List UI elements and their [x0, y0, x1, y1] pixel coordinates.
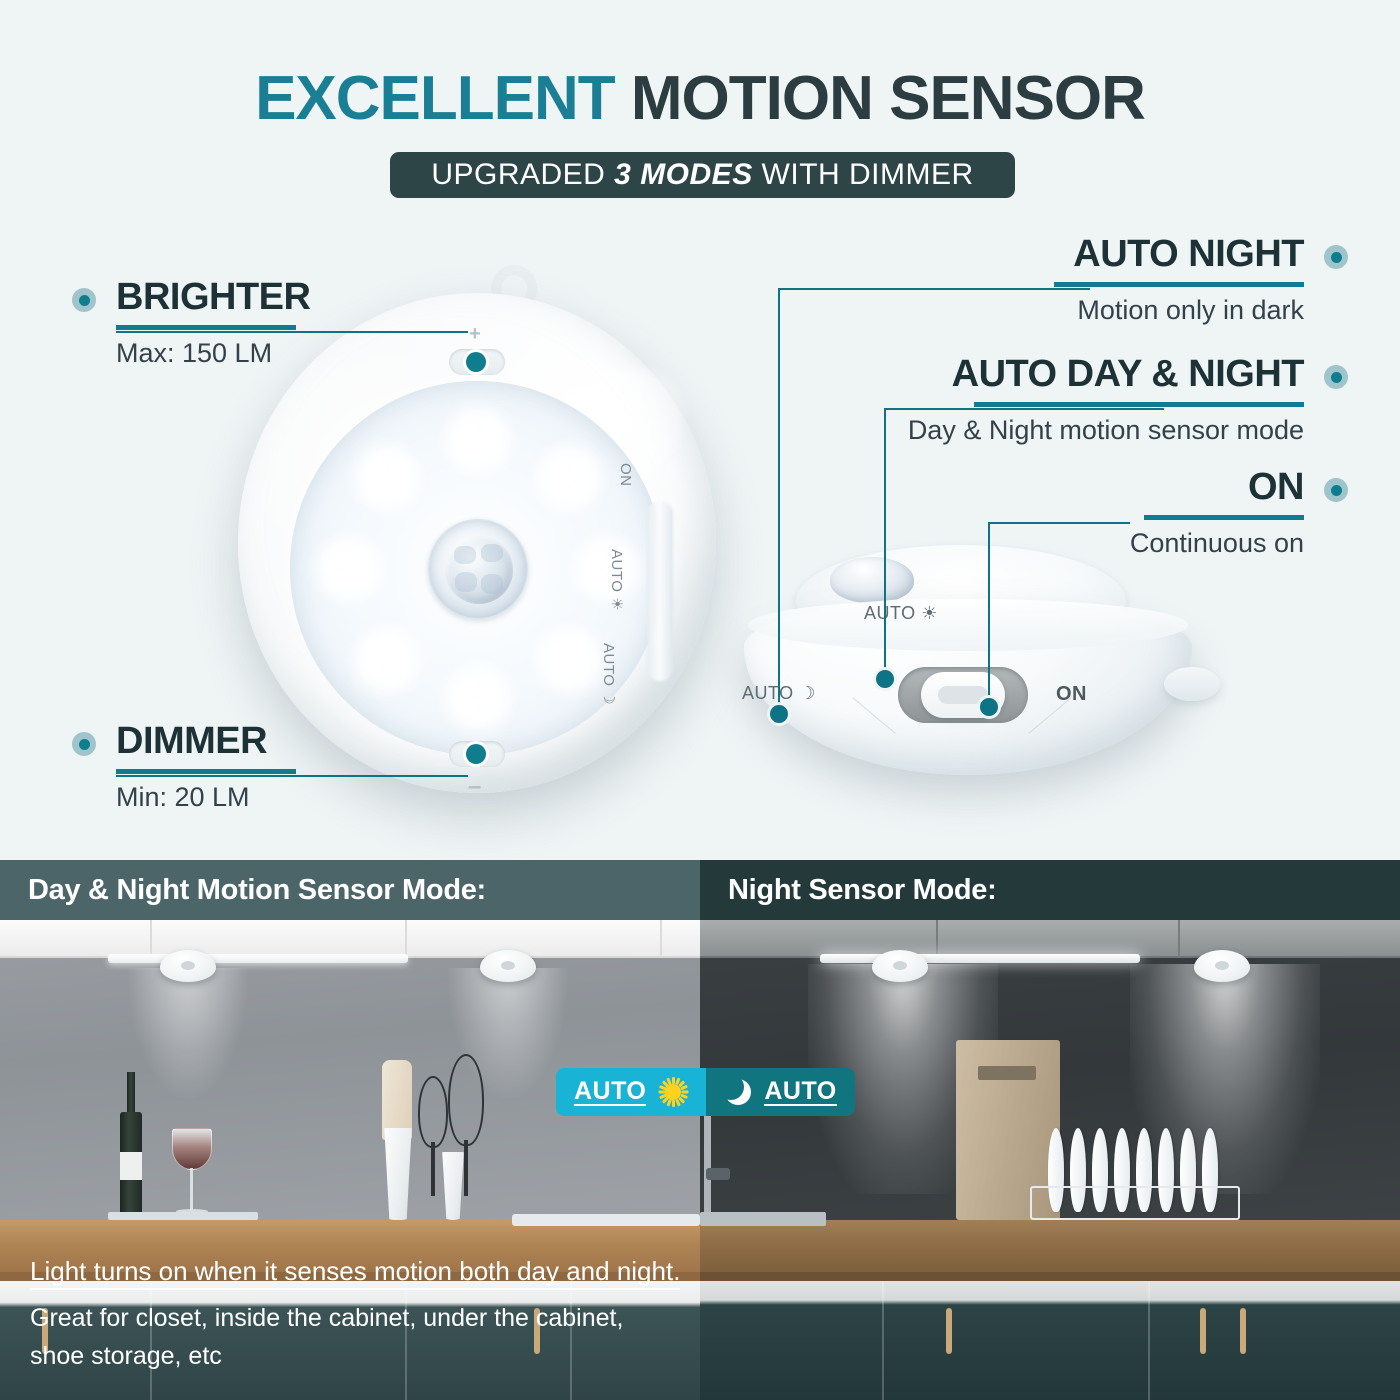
serving-tray [108, 1212, 258, 1220]
sun-ray-3 [682, 1091, 689, 1094]
night-lower-divider-2 [1148, 1281, 1150, 1400]
pir-facet-1 [454, 546, 476, 564]
night-counter-edge [700, 1272, 1400, 1281]
side-dial-label-auto-sun: AUTO ☀ [608, 549, 626, 611]
callout-on-bullet-icon [1324, 478, 1348, 502]
day-mounted-lamp-2 [480, 950, 536, 982]
callout-dimmer-title: DIMMER [72, 722, 296, 760]
callout-auto-night-title: AUTO NIGHT [868, 235, 1348, 273]
subtitle-pre: UPGRADED [431, 158, 614, 191]
scene-header-night: Night Sensor Mode: [700, 860, 1400, 920]
whisk-large-handle [464, 1140, 468, 1196]
day-cabinet-divider-1 [150, 920, 152, 958]
callout-brighter-sub: Max: 150 LM [72, 338, 310, 369]
night-upper-cabinet [700, 920, 1400, 958]
whisk-small [418, 1076, 448, 1148]
cutting-board-handle-slot [978, 1066, 1036, 1080]
callout-dimmer-bullet-icon [72, 732, 96, 756]
auto-mode-badge: AUTO AUTO [556, 1068, 855, 1116]
side-mode-dial[interactable]: ON AUTO ☀ AUTO ☽ [590, 453, 670, 733]
night-countertop [700, 1220, 1400, 1278]
callout-auto-night-rule [1054, 282, 1304, 287]
callout-on: ON Continuous on [868, 468, 1348, 559]
night-cabinet-divider-2 [1178, 920, 1180, 958]
caption-day-night: Light turns on when it senses motion bot… [30, 1255, 680, 1374]
brighter-button-marker [466, 352, 486, 372]
night-cabinet-handle-1 [946, 1308, 952, 1354]
whisk-large [448, 1054, 484, 1146]
pir-facet-4 [481, 574, 503, 594]
night-light-strip [820, 954, 1140, 963]
switch-label-on: ON [1056, 683, 1087, 706]
caption-day-night-main: Light turns on when it senses motion bot… [30, 1255, 680, 1290]
night-cabinet-handle-2 [1200, 1308, 1206, 1354]
dimmer-button-marker [466, 744, 486, 764]
subtitle-pill: UPGRADED 3 MODES WITH DIMMER [390, 152, 1015, 198]
base-lamp-rim [748, 599, 1188, 651]
day-light-pool-1 [128, 968, 248, 1098]
callout-auto-day-night-title: AUTO DAY & NIGHT [818, 355, 1348, 393]
connector-on-dot [980, 698, 998, 716]
brightness-plus-mark: + [469, 323, 481, 346]
brightness-minus-mark: – [468, 773, 481, 801]
day-cabinet-divider-3 [660, 920, 662, 958]
title-rest: MOTION SENSOR [631, 64, 1145, 133]
wine-glass-stem [190, 1168, 193, 1210]
callout-auto-day-night-bullet-icon [1324, 365, 1348, 389]
day-sink [512, 1214, 700, 1226]
header: EXCELLENT MOTION SENSOR UPGRADED 3 MODES… [0, 0, 1400, 200]
led-6 [345, 618, 429, 702]
pir-facet-2 [481, 544, 503, 562]
callout-auto-day-night-sub: Day & Night motion sensor mode [818, 415, 1348, 446]
caption-day-night-sub-1: Great for closet, inside the cabinet, un… [30, 1300, 680, 1336]
night-cabinet-handle-3 [1240, 1308, 1246, 1354]
scenes-section: Day & Night Motion Sensor Mode: Light tu… [0, 860, 1400, 1400]
auto-badge-day-half: AUTO [556, 1068, 706, 1116]
side-dial-label-on: ON [617, 463, 634, 487]
connector-autonight-dot [770, 705, 788, 723]
side-dial-ridge [647, 501, 673, 681]
moon-icon [724, 1078, 752, 1106]
base-lamp-product-image: AUTO ☽ AUTO ☀ ON [718, 545, 1228, 805]
connector-autodaynight-dot [876, 670, 894, 688]
subtitle-post: WITH DIMMER [753, 158, 974, 191]
pir-facet-3 [455, 572, 477, 592]
auto-badge-night-half: AUTO [706, 1068, 854, 1116]
wine-bottle-label [120, 1152, 142, 1180]
callout-dimmer: DIMMER Min: 20 LM [72, 722, 296, 813]
callout-brighter: BRIGHTER Max: 150 LM [72, 278, 310, 369]
pir-motion-sensor [428, 519, 528, 619]
callout-auto-day-night: AUTO DAY & NIGHT Day & Night motion sens… [818, 355, 1348, 446]
caption-day-night-sub-2: shoe storage, etc [30, 1338, 680, 1374]
base-pir-dome [830, 557, 914, 603]
title-accent: EXCELLENT [255, 64, 615, 133]
dish-rack [1030, 1128, 1240, 1220]
page-title: EXCELLENT MOTION SENSOR [0, 68, 1400, 130]
night-sink [700, 1212, 826, 1226]
base-mounting-tab [1164, 667, 1220, 701]
callout-on-title: ON [868, 468, 1348, 506]
scene-night-mode: Night Sensor Mode: Light only turns on w… [700, 860, 1400, 1400]
callout-on-rule [1144, 515, 1304, 520]
day-light-strip [108, 954, 408, 963]
led-8 [345, 436, 429, 520]
scene-header-day-night: Day & Night Motion Sensor Mode: [0, 860, 700, 920]
led-5 [436, 656, 520, 740]
callout-on-sub: Continuous on [868, 528, 1348, 559]
whisk-small-handle [431, 1142, 435, 1196]
auto-badge-night-label: AUTO [764, 1078, 836, 1106]
led-7 [307, 527, 391, 611]
connector-autonight-v [778, 288, 780, 713]
side-dial-label-auto-moon: AUTO ☽ [600, 643, 618, 705]
callout-auto-night-sub: Motion only in dark [868, 295, 1348, 326]
scene-header-day-night-text: Day & Night Motion Sensor Mode: [0, 874, 486, 907]
callout-auto-day-night-rule [974, 402, 1304, 407]
auto-badge-day-label: AUTO [574, 1078, 646, 1106]
sun-ray-10 [681, 1085, 689, 1090]
wine-glass-bowl [172, 1128, 212, 1170]
dish-rack-frame [1030, 1186, 1240, 1220]
callout-brighter-bullet-icon [72, 288, 96, 312]
callout-brighter-rule [116, 325, 296, 330]
callout-dimmer-rule [116, 769, 296, 774]
sun-icon [658, 1077, 688, 1107]
scene-day-night-mode: Day & Night Motion Sensor Mode: Light tu… [0, 860, 700, 1400]
led-1 [436, 398, 520, 482]
callout-auto-night-bullet-icon [1324, 245, 1348, 269]
day-upper-cabinet [0, 920, 700, 958]
night-cabinet-divider-1 [936, 920, 938, 958]
night-lower-divider-1 [882, 1281, 884, 1400]
night-lower-cabinets [700, 1281, 1400, 1400]
callout-dimmer-sub: Min: 20 LM [72, 782, 296, 813]
night-mounted-lamp-1 [872, 950, 928, 982]
switch-label-auto-day: AUTO ☀ [864, 603, 938, 624]
pir-dome [445, 536, 513, 604]
hero-section: + – ON AUTO ☀ AUTO ☽ AUTO ☽ AUTO ☀ ON [0, 200, 1400, 860]
day-cabinet-divider-2 [405, 920, 407, 958]
kitchen-faucet-handle [706, 1168, 730, 1180]
scene-header-night-text: Night Sensor Mode: [700, 874, 997, 907]
subtitle-text: UPGRADED 3 MODES WITH DIMMER [431, 158, 973, 192]
callout-auto-night: AUTO NIGHT Motion only in dark [868, 235, 1348, 326]
callout-brighter-title: BRIGHTER [72, 278, 310, 316]
subtitle-bold: 3 MODES [614, 158, 753, 191]
wine-bottle-neck [127, 1072, 135, 1116]
day-mounted-lamp-1 [160, 950, 216, 982]
night-mounted-lamp-2 [1194, 950, 1250, 982]
kitchen-faucet [704, 1108, 711, 1220]
